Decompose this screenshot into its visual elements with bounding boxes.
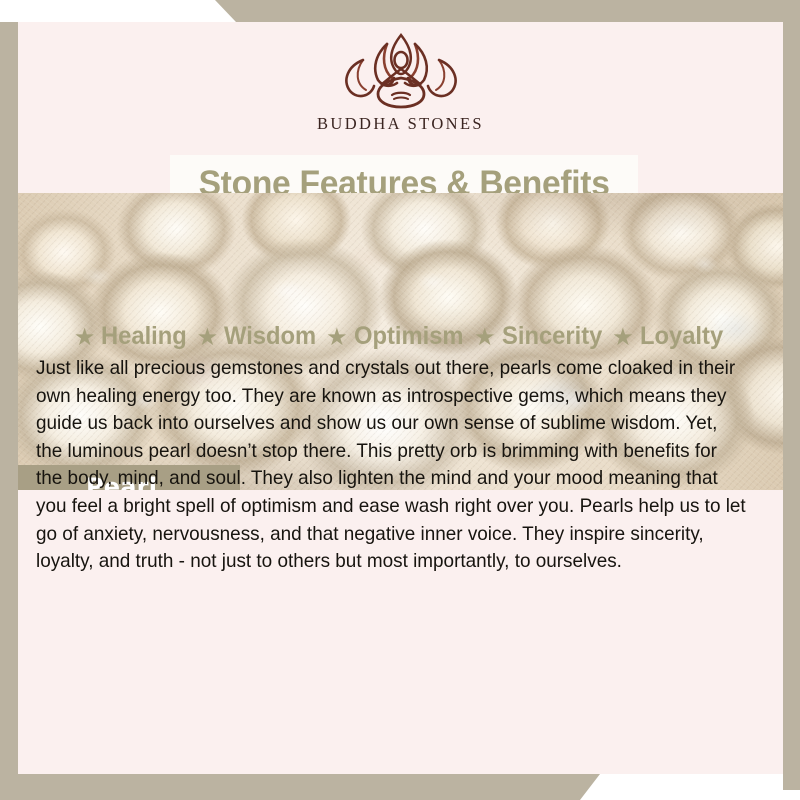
- star-icon: ★: [326, 326, 348, 350]
- benefit-optimism: ★ Optimism: [326, 322, 469, 351]
- star-icon: ★: [474, 326, 496, 350]
- star-icon: ★: [612, 326, 634, 350]
- decor-band-bottom: [0, 774, 800, 800]
- benefit-label: Optimism: [354, 322, 464, 351]
- star-icon: ★: [197, 326, 219, 350]
- benefits-row: ★ Healing ★ Wisdom ★ Optimism ★ Sincerit…: [18, 322, 783, 351]
- content-card: BUDDHA STONES Stone Features & Benefits …: [18, 22, 783, 774]
- infographic-page: BUDDHA STONES Stone Features & Benefits …: [0, 0, 800, 800]
- benefit-label: Healing: [101, 322, 187, 351]
- benefit-sincerity: ★ Sincerity: [474, 322, 607, 351]
- benefit-label: Sincerity: [502, 322, 602, 351]
- lotus-meditation-figure-icon: [326, 30, 476, 112]
- benefit-wisdom: ★ Wisdom: [197, 322, 322, 351]
- benefit-loyalty: ★ Loyalty: [612, 322, 727, 351]
- benefit-label: Wisdom: [224, 322, 316, 351]
- benefit-label: Loyalty: [640, 322, 723, 351]
- decor-band-right: [783, 0, 800, 790]
- brand-name: BUDDHA STONES: [317, 114, 484, 134]
- brand-logo: BUDDHA STONES: [18, 22, 783, 147]
- decor-band-left: [0, 22, 18, 782]
- star-icon: ★: [74, 326, 96, 350]
- stone-description: Just like all precious gemstones and cry…: [36, 355, 746, 576]
- decor-band-top: [0, 0, 800, 22]
- benefit-healing: ★ Healing: [74, 322, 192, 351]
